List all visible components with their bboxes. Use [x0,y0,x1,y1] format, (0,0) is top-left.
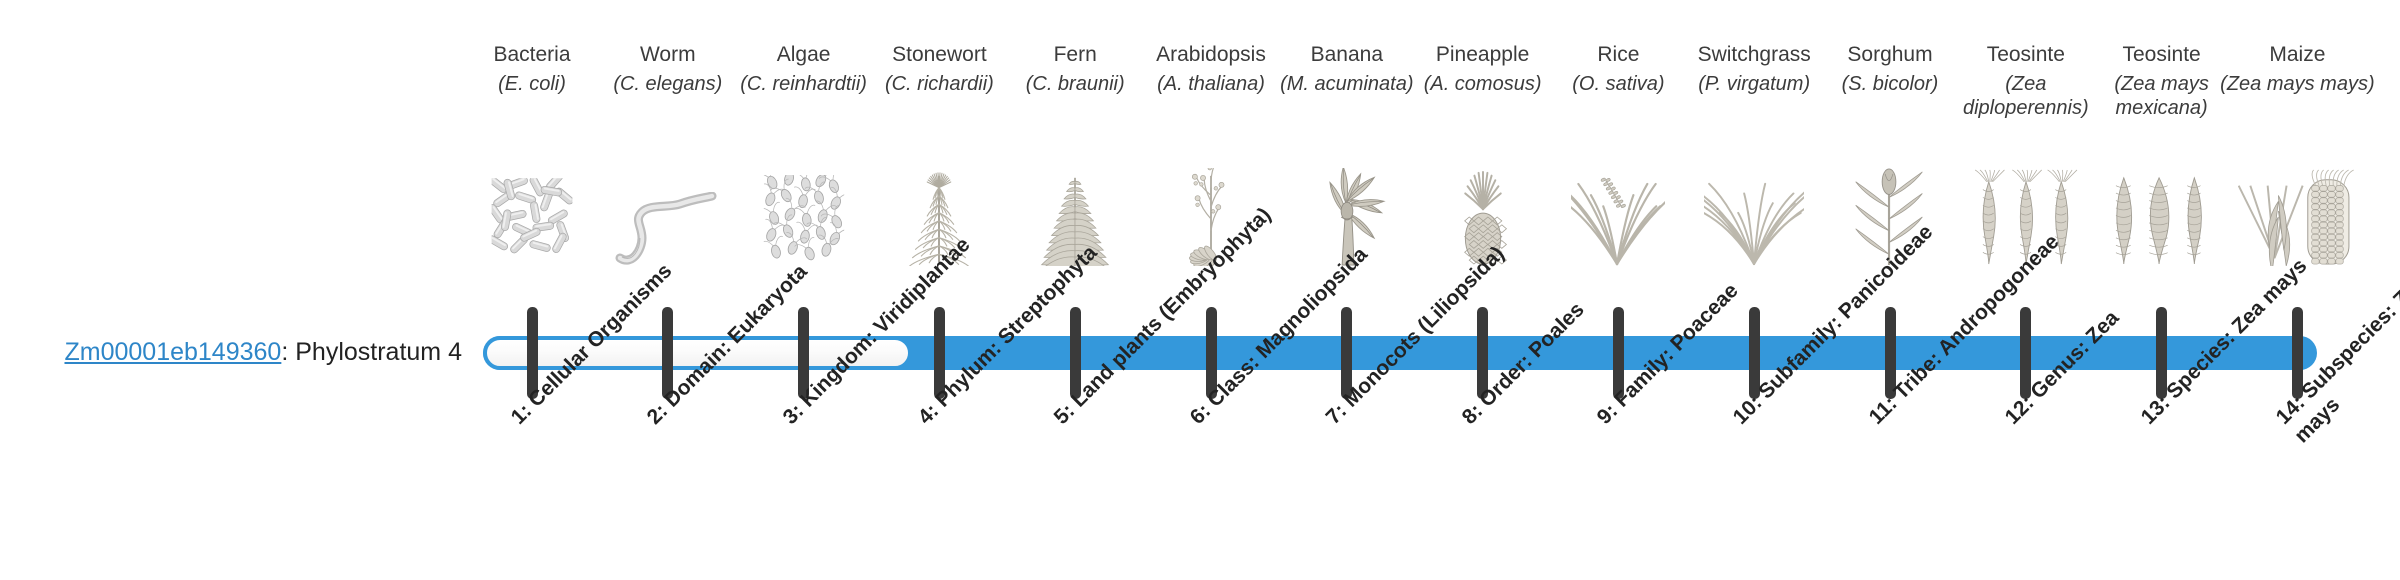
organism-scientific-name: (S. bicolor) [1812,72,1968,96]
organism-column-1: Bacteria(E. coli) [464,0,600,300]
organism-scientific-name: (E. coli) [454,72,610,96]
organism-scientific-name: (Zea mays mays) [2219,72,2375,96]
organism-scientific-name: (C. richardii) [861,72,1017,96]
organism-scientific-name: (C. braunii) [997,72,1153,96]
organism-scientific-name: (C. elegans) [590,72,746,96]
organism-scientific-name: (Zea mays mexicana) [2084,72,2240,120]
bacteria-illustration [467,168,597,266]
organism-scientific-name: (A. thaliana) [1133,72,1289,96]
organism-scientific-name: (Zea diploperennis) [1948,72,2104,120]
organism-scientific-name: (C. reinhardtii) [726,72,882,96]
organism-common-name: Maize [2211,42,2383,67]
organism-scientific-name: (P. virgatum) [1676,72,1832,96]
organism-scientific-name: (O. sativa) [1540,72,1696,96]
organism-scientific-name: (A. comosus) [1405,72,1561,96]
organism-scientific-name: (M. acuminata) [1269,72,1425,96]
